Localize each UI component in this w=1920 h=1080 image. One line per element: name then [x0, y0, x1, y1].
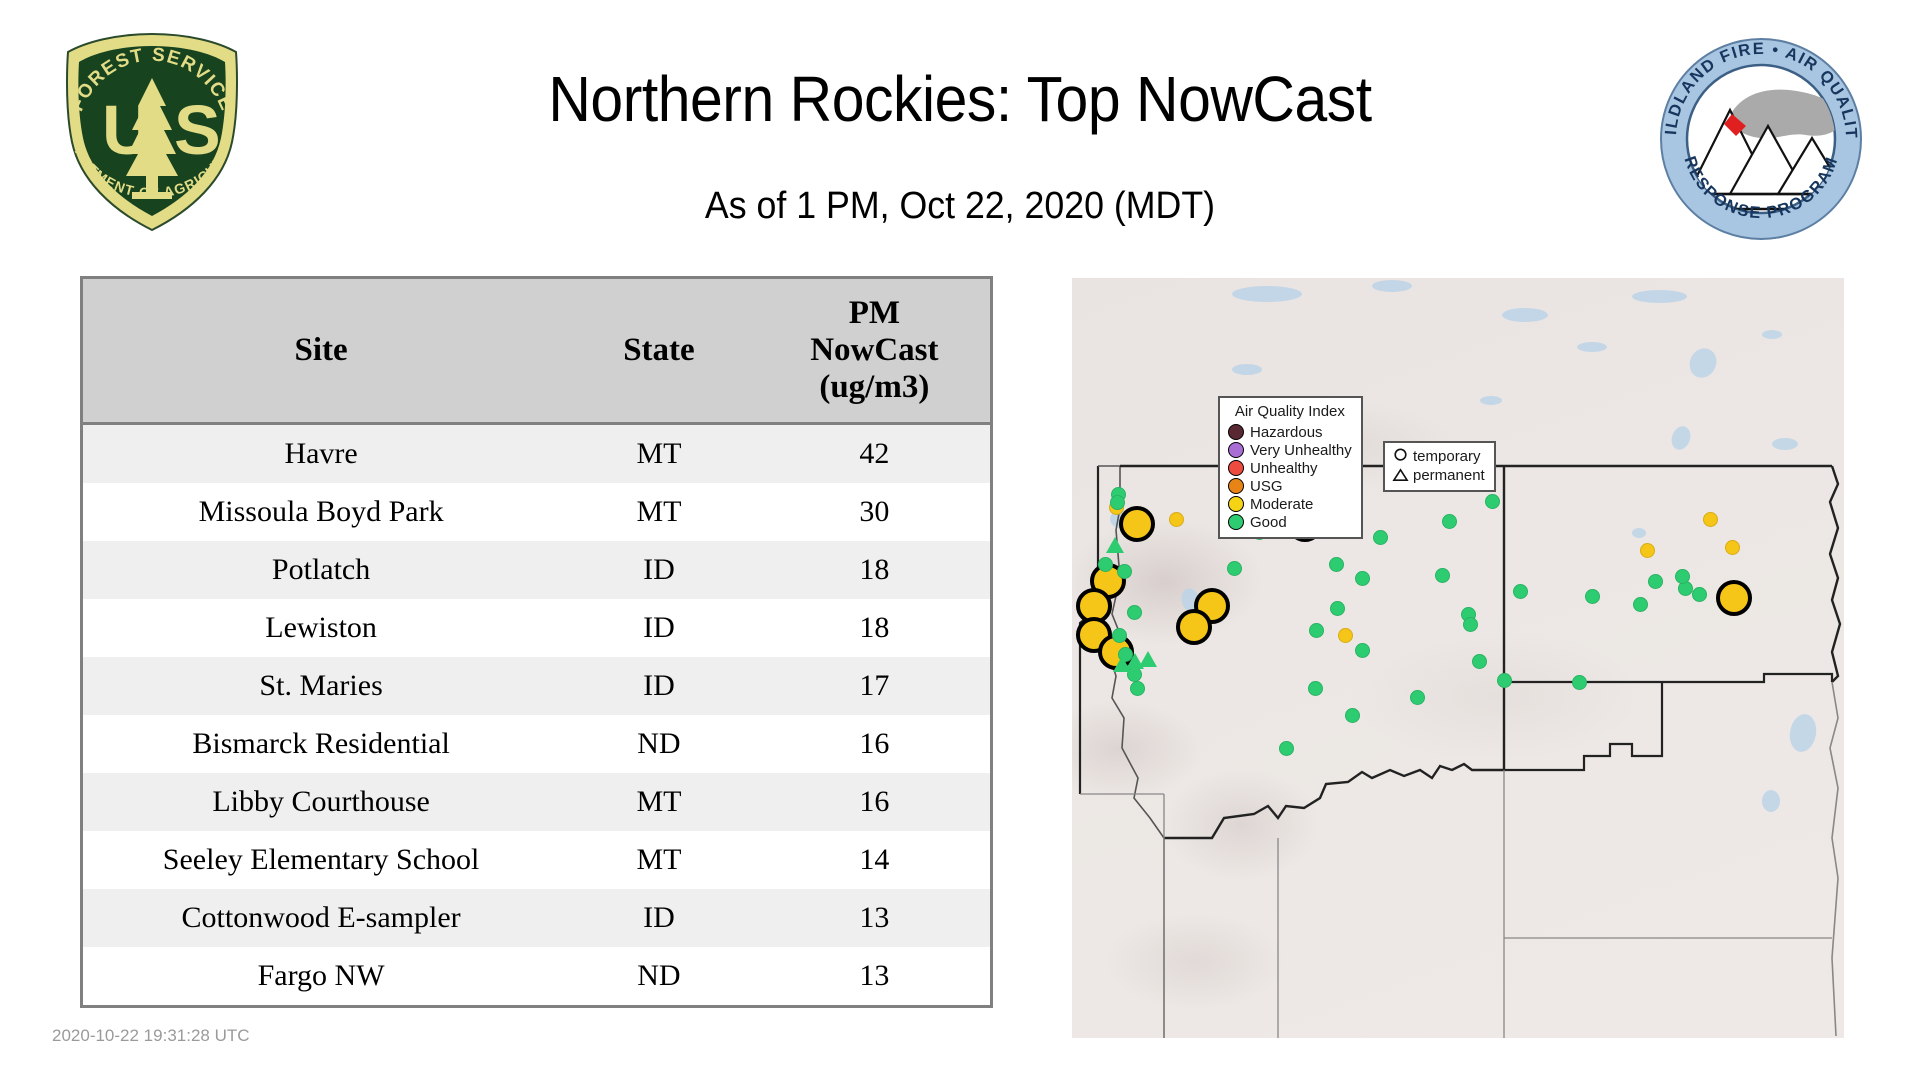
map-marker-monitor[interactable]: [1110, 495, 1125, 510]
table-row: Cottonwood E-sampler ID 13: [83, 889, 990, 947]
legend-label: permanent: [1413, 468, 1485, 483]
cell-value: 18: [759, 599, 990, 657]
column-header-pm-line2: NowCast: [810, 332, 938, 368]
page-subtitle: As of 1 PM, Oct 22, 2020 (MDT): [58, 185, 1863, 228]
cell-value: 30: [759, 483, 990, 541]
legend-item-very-unhealthy: Very Unhealthy: [1228, 441, 1352, 459]
map-marker-monitor[interactable]: [1279, 741, 1294, 756]
map-marker-monitor[interactable]: [1640, 543, 1655, 558]
map-marker-monitor[interactable]: [1127, 605, 1142, 620]
table-row: Bismarck Residential ND 16: [83, 715, 990, 773]
map-marker-monitor[interactable]: [1227, 561, 1242, 576]
column-header-state: State: [559, 279, 759, 423]
legend-item-usg: USG: [1228, 477, 1352, 495]
cell-state: ID: [559, 657, 759, 715]
map-marker-monitor[interactable]: [1112, 628, 1127, 643]
map-marker-monitor[interactable]: [1435, 568, 1450, 583]
generated-timestamp: 2020-10-22 19:31:28 UTC: [52, 1026, 250, 1046]
map-marker-monitor[interactable]: [1355, 571, 1370, 586]
legend-label: Moderate: [1250, 497, 1313, 512]
moderate-swatch-icon: [1228, 496, 1244, 512]
aqi-legend-title: Air Quality Index: [1228, 404, 1352, 419]
column-header-site: Site: [83, 279, 559, 423]
map-marker-monitor[interactable]: [1329, 557, 1344, 572]
cell-value: 18: [759, 541, 990, 599]
cell-state: MT: [559, 831, 759, 889]
table-header-row: Site State PM NowCast (ug/m3): [83, 279, 990, 423]
map-marker-monitor[interactable]: [1308, 681, 1323, 696]
nowcast-table-container: Site State PM NowCast (ug/m3) Havre MT: [80, 276, 993, 1008]
triangle-icon: [1392, 467, 1409, 484]
circle-icon: [1392, 448, 1409, 465]
map-marker-monitor[interactable]: [1585, 589, 1600, 604]
cell-site: Missoula Boyd Park: [83, 483, 559, 541]
cell-state: ID: [559, 889, 759, 947]
page-title: Northern Rockies: Top NowCast: [77, 62, 1843, 136]
map-marker-libby-courthouse[interactable]: [1119, 506, 1155, 542]
cell-site: Havre: [83, 423, 559, 483]
cell-site: Libby Courthouse: [83, 773, 559, 831]
air-quality-map[interactable]: Air Quality Index Hazardous Very Unhealt…: [1072, 278, 1844, 1038]
map-marker-monitor[interactable]: [1725, 540, 1740, 555]
legend-label: Very Unhealthy: [1250, 443, 1352, 458]
legend-item-unhealthy: Unhealthy: [1228, 459, 1352, 477]
table-row: Lewiston ID 18: [83, 599, 990, 657]
map-marker-monitor[interactable]: [1098, 557, 1113, 572]
cell-state: MT: [559, 773, 759, 831]
map-marker-monitor[interactable]: [1355, 643, 1370, 658]
map-marker-monitor[interactable]: [1633, 597, 1648, 612]
cell-value: 16: [759, 715, 990, 773]
legend-label: USG: [1250, 479, 1283, 494]
map-marker-monitor[interactable]: [1345, 708, 1360, 723]
cell-state: ID: [559, 541, 759, 599]
column-header-pm-line1: PM: [849, 295, 900, 331]
good-swatch-icon: [1228, 514, 1244, 530]
state-borders: [1072, 278, 1844, 1038]
legend-item-hazardous: Hazardous: [1228, 423, 1352, 441]
cell-site: Potlatch: [83, 541, 559, 599]
map-marker-missoula-boyd-park[interactable]: [1176, 609, 1212, 645]
map-marker-monitor[interactable]: [1130, 681, 1145, 696]
cell-site: St. Maries: [83, 657, 559, 715]
nowcast-table: Site State PM NowCast (ug/m3) Havre MT: [83, 279, 990, 1005]
legend-label: Unhealthy: [1250, 461, 1318, 476]
map-marker-monitor[interactable]: [1117, 564, 1132, 579]
map-marker-permanent-monitor[interactable]: [1106, 537, 1124, 553]
map-marker-bismarck-residential[interactable]: [1716, 580, 1752, 616]
unhealthy-swatch-icon: [1228, 460, 1244, 476]
map-marker-monitor[interactable]: [1675, 569, 1690, 584]
legend-label: Hazardous: [1250, 425, 1323, 440]
cell-site: Fargo NW: [83, 947, 559, 1005]
map-marker-monitor[interactable]: [1169, 512, 1184, 527]
cell-value: 14: [759, 831, 990, 889]
cell-state: ND: [559, 947, 759, 1005]
table-row: Missoula Boyd Park MT 30: [83, 483, 990, 541]
table-row: Seeley Elementary School MT 14: [83, 831, 990, 889]
cell-state: ID: [559, 599, 759, 657]
map-marker-monitor[interactable]: [1309, 623, 1324, 638]
legend-item-moderate: Moderate: [1228, 495, 1352, 513]
map-marker-monitor[interactable]: [1513, 584, 1528, 599]
cell-value: 42: [759, 423, 990, 483]
map-marker-monitor[interactable]: [1373, 530, 1388, 545]
usg-swatch-icon: [1228, 478, 1244, 494]
cell-state: MT: [559, 423, 759, 483]
cell-site: Bismarck Residential: [83, 715, 559, 773]
map-marker-monitor[interactable]: [1648, 574, 1663, 589]
hazardous-swatch-icon: [1228, 424, 1244, 440]
cell-site: Seeley Elementary School: [83, 831, 559, 889]
cell-site: Lewiston: [83, 599, 559, 657]
map-marker-monitor[interactable]: [1692, 587, 1707, 602]
map-marker-monitor[interactable]: [1497, 673, 1512, 688]
cell-value: 13: [759, 947, 990, 1005]
map-marker-monitor[interactable]: [1442, 514, 1457, 529]
column-header-site-label: Site: [295, 332, 348, 368]
map-marker-monitor[interactable]: [1330, 601, 1345, 616]
cell-site: Cottonwood E-sampler: [83, 889, 559, 947]
column-header-pm-nowcast: PM NowCast (ug/m3): [759, 279, 990, 423]
table-row: Havre MT 42: [83, 423, 990, 483]
table-row: Potlatch ID 18: [83, 541, 990, 599]
monitor-type-legend: temporary permanent: [1383, 441, 1496, 492]
legend-item-good: Good: [1228, 513, 1352, 531]
map-marker-monitor[interactable]: [1410, 690, 1425, 705]
map-marker-monitor[interactable]: [1703, 512, 1718, 527]
map-marker-monitor[interactable]: [1472, 654, 1487, 669]
aqi-legend: Air Quality Index Hazardous Very Unhealt…: [1218, 396, 1363, 539]
cell-state: MT: [559, 483, 759, 541]
table-body: Havre MT 42 Missoula Boyd Park MT 30 Pot…: [83, 423, 990, 1005]
cell-value: 16: [759, 773, 990, 831]
column-header-pm-line3: (ug/m3): [819, 369, 929, 405]
cell-value: 13: [759, 889, 990, 947]
map-marker-permanent-monitor[interactable]: [1139, 651, 1157, 667]
table-row: Libby Courthouse MT 16: [83, 773, 990, 831]
map-marker-monitor[interactable]: [1572, 675, 1587, 690]
legend-label: Good: [1250, 515, 1287, 530]
cell-state: ND: [559, 715, 759, 773]
legend-item-temporary: temporary: [1392, 447, 1485, 466]
map-marker-monitor[interactable]: [1485, 494, 1500, 509]
cell-value: 17: [759, 657, 990, 715]
legend-item-permanent: permanent: [1392, 466, 1485, 485]
table-row: Fargo NW ND 13: [83, 947, 990, 1005]
map-marker-monitor[interactable]: [1463, 617, 1478, 632]
map-marker-monitor[interactable]: [1338, 628, 1353, 643]
table-row: St. Maries ID 17: [83, 657, 990, 715]
legend-label: temporary: [1413, 449, 1481, 464]
very-unhealthy-swatch-icon: [1228, 442, 1244, 458]
table-header: Site State PM NowCast (ug/m3): [83, 279, 990, 423]
column-header-state-label: State: [623, 332, 694, 368]
